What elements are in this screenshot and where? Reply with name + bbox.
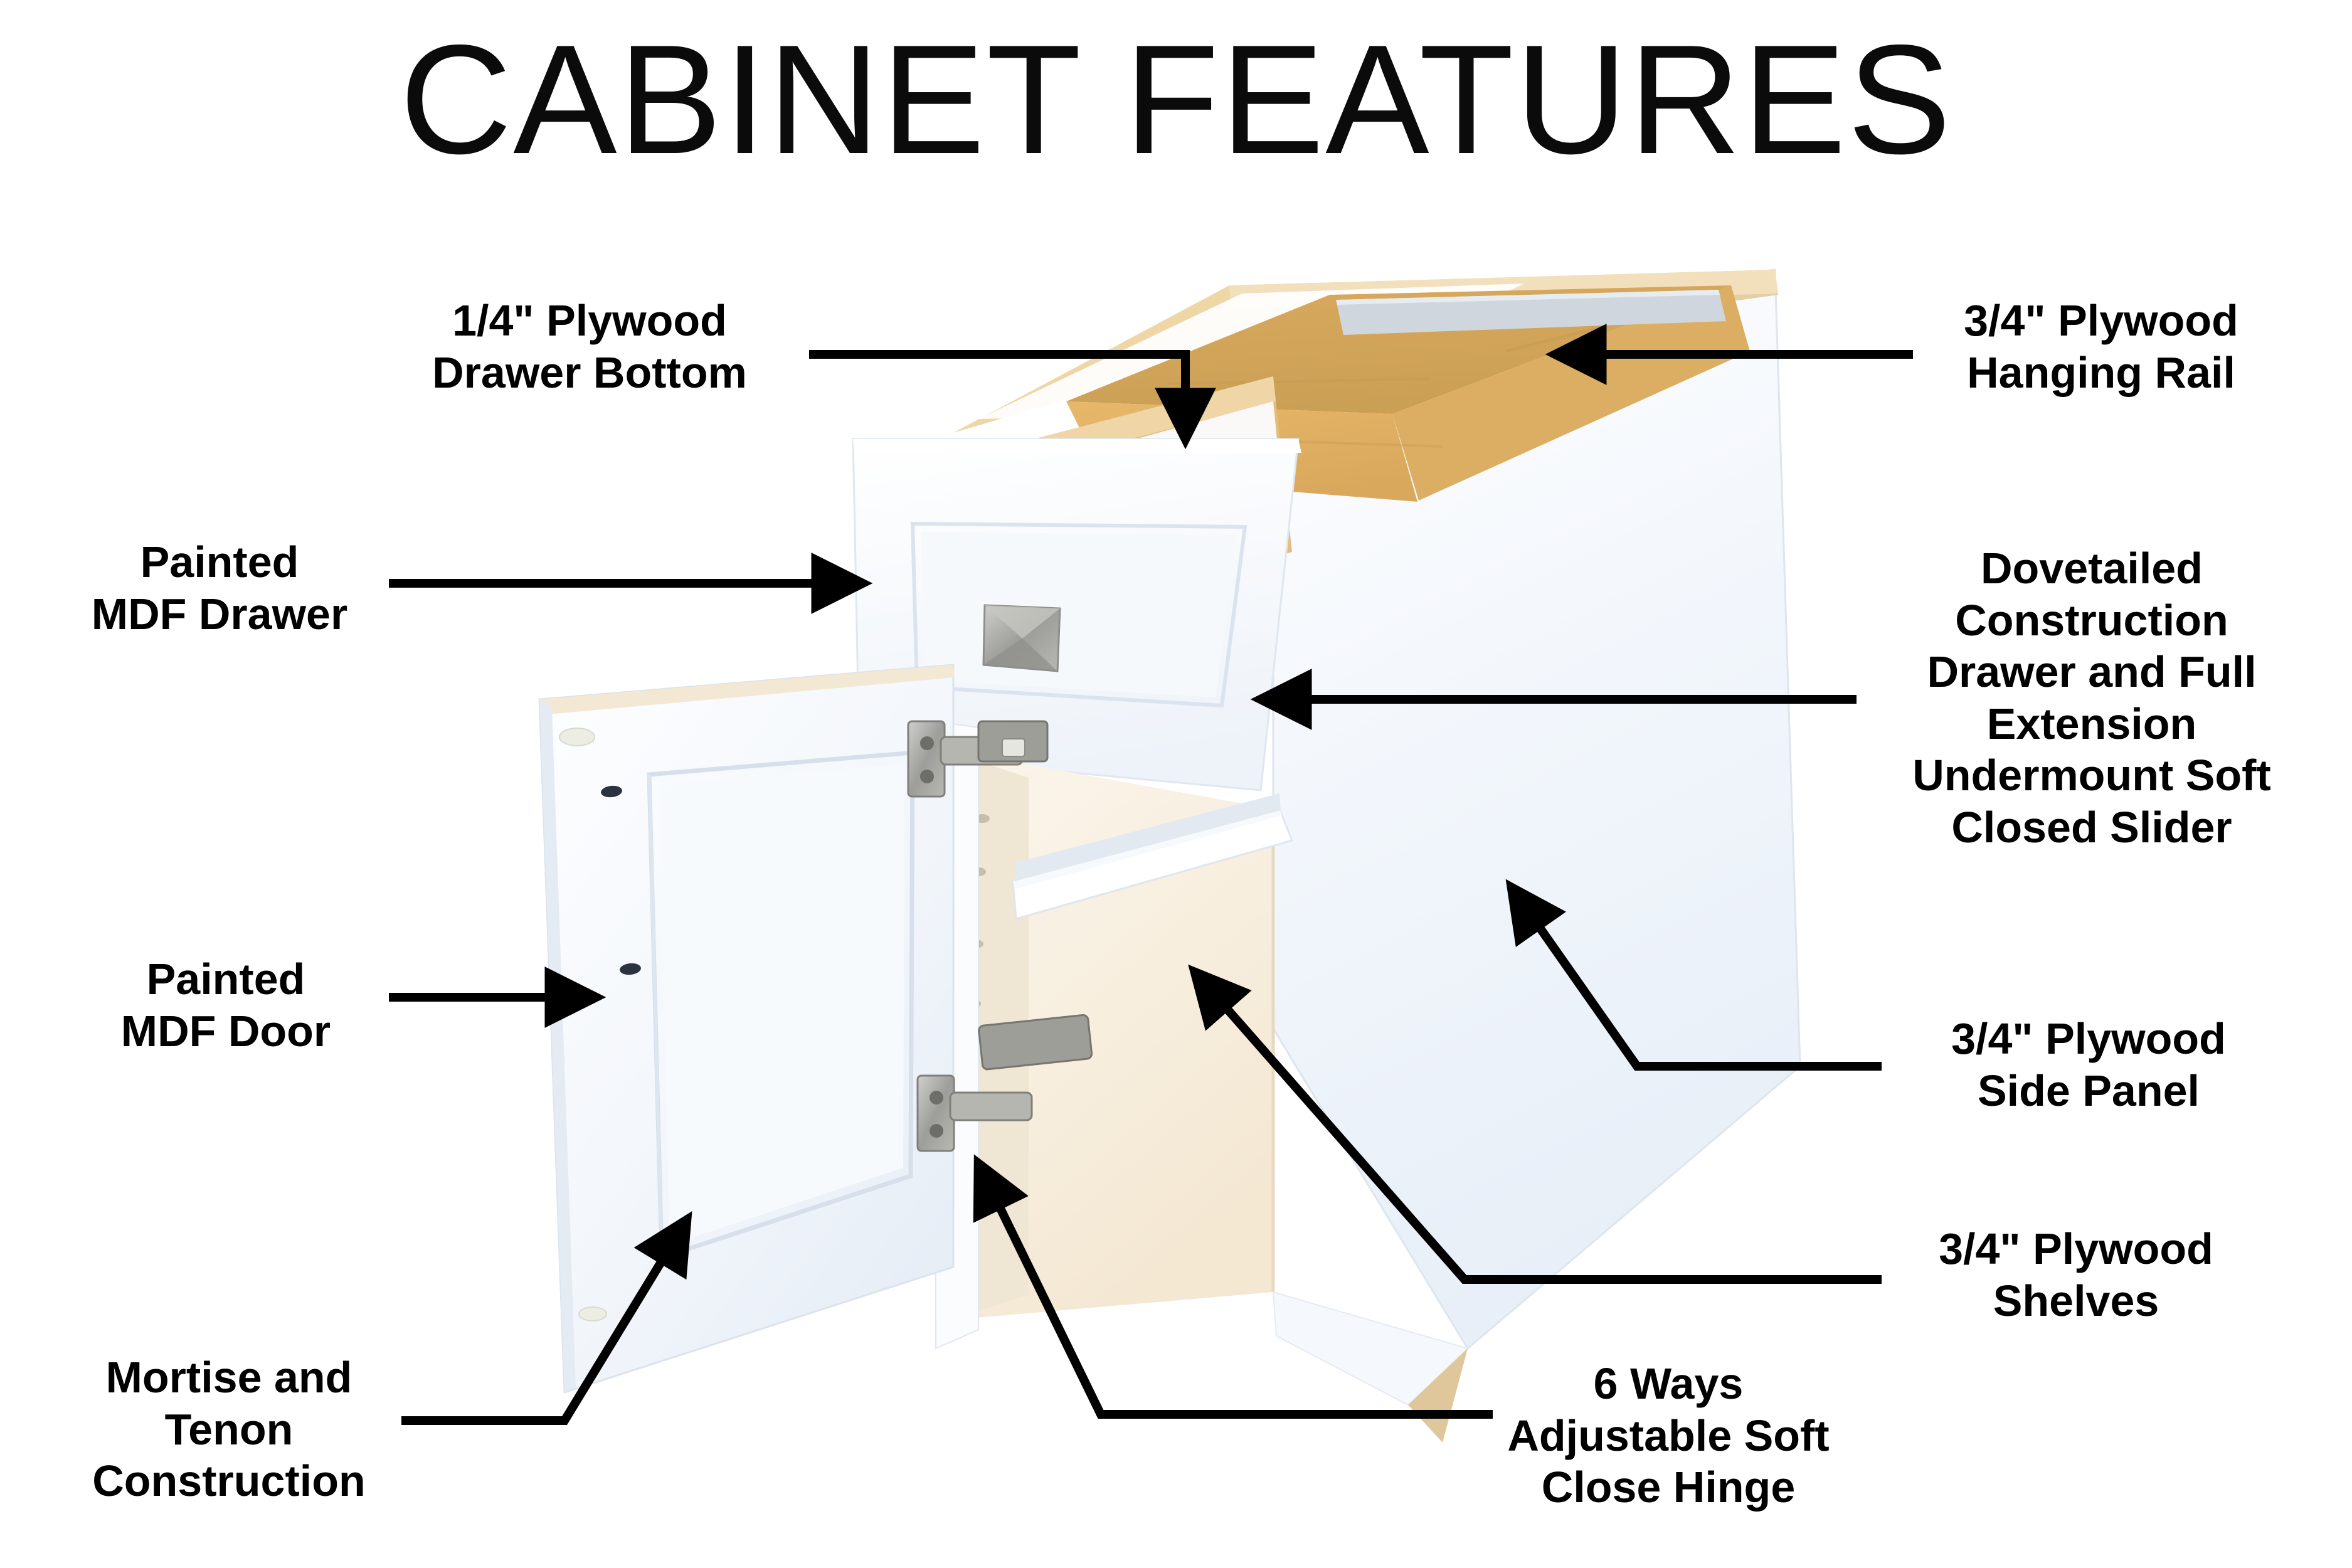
soft-close-hinge-bottom: [918, 1015, 1092, 1151]
hinge-bore-marks: [600, 785, 642, 975]
annotation-label-dovetailed-construction-slider: Dovetailed Construction Drawer and Full …: [1872, 543, 2311, 854]
leader-soft-close-hinge: [978, 1163, 1493, 1414]
page-title: CABINET FEATURES: [0, 18, 2352, 181]
annotation-label-mortise-and-tenon-construction: Mortise and Tenon Construction: [63, 1352, 395, 1507]
cabinet-top-frame: [953, 270, 1778, 502]
painted-mdf-door: [539, 665, 955, 1392]
painted-mdf-drawer-front: [853, 439, 1301, 790]
leader-mortise-tenon: [401, 1220, 687, 1421]
annotation-label-painted-mdf-drawer: Painted MDF Drawer: [63, 536, 376, 640]
annotation-label-plywood-hanging-rail: 3/4" Plywood Hanging Rail: [1926, 295, 2277, 398]
door-bumper-top: [559, 728, 595, 746]
annotation-label-painted-mdf-door: Painted MDF Door: [88, 953, 364, 1057]
shelf-pin-holes: [963, 814, 990, 1064]
drawer-box: [891, 376, 1292, 671]
leader-plywood-shelves: [1195, 972, 1882, 1279]
door-bumper-bottom: [579, 1307, 607, 1321]
annotation-label-plywood-shelves: 3/4" Plywood Shelves: [1894, 1223, 2258, 1327]
cabinet-bottom: [947, 1292, 1468, 1443]
cabinet-interior: [944, 750, 1273, 1320]
leader-plywood-side-panel: [1512, 887, 1882, 1066]
plywood-hanging-rail-part: [1336, 290, 1726, 335]
drawer-knob: [983, 605, 1060, 671]
annotation-label-plywood-side-panel: 3/4" Plywood Side Panel: [1907, 1013, 2270, 1116]
soft-close-hinge-top: [908, 721, 1047, 797]
cabinet-right-side-panel: [1273, 270, 1800, 1348]
cabinet-face-frame-stile: [935, 721, 978, 1348]
plywood-shelf: [1013, 793, 1292, 919]
annotation-label-plywood-drawer-bottom: 1/4" Plywood Drawer Bottom: [401, 295, 778, 398]
cabinet-features-infographic: CABINET FEATURES: [0, 0, 2352, 1568]
leader-plywood-drawer-bottom: [809, 354, 1185, 439]
annotation-label-adjustable-soft-close-hinge: 6 Ways Adjustable Soft Close Hinge: [1474, 1358, 1863, 1513]
